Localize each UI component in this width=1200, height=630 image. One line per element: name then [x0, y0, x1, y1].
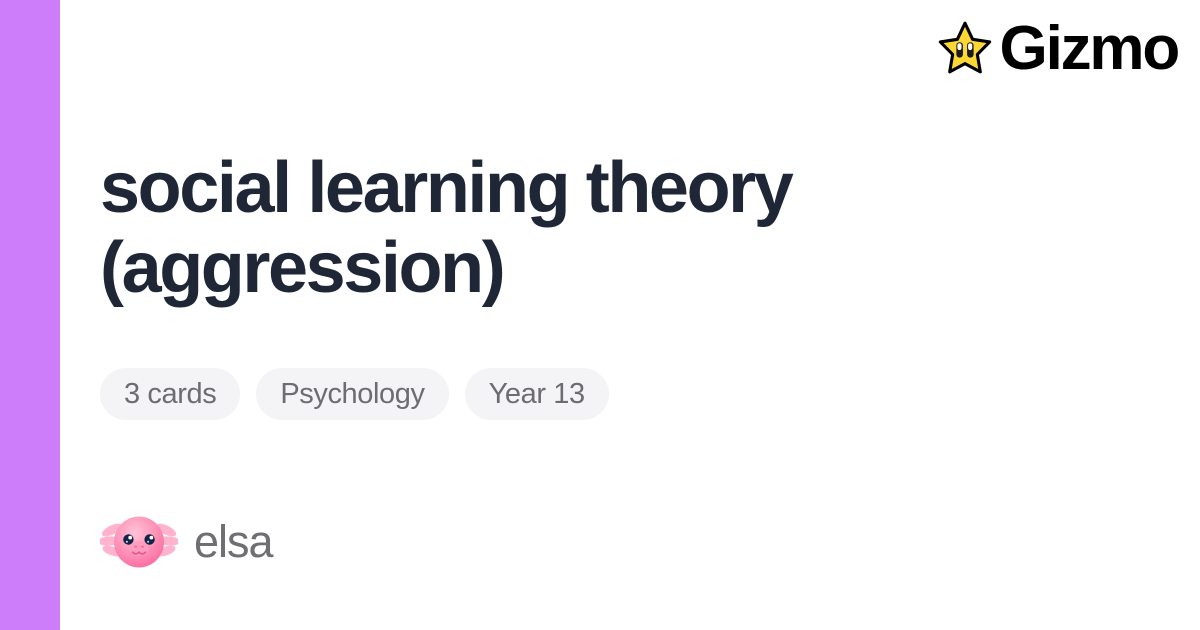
- content-block: social learning theory (aggression) 3 ca…: [100, 0, 1160, 630]
- deck-meta-pills: 3 cards Psychology Year 13: [100, 368, 609, 420]
- share-card: Gizmo social learning theory (aggression…: [0, 0, 1200, 630]
- badge-year-level: Year 13: [465, 368, 609, 420]
- page-title: social learning theory (aggression): [100, 148, 1000, 308]
- author-name: elsa: [194, 519, 273, 564]
- author-row: elsa: [100, 508, 273, 574]
- accent-bar: [0, 0, 60, 630]
- axolotl-avatar-icon: [100, 508, 178, 574]
- badge-subject: Psychology: [256, 368, 448, 420]
- badge-card-count: 3 cards: [100, 368, 240, 420]
